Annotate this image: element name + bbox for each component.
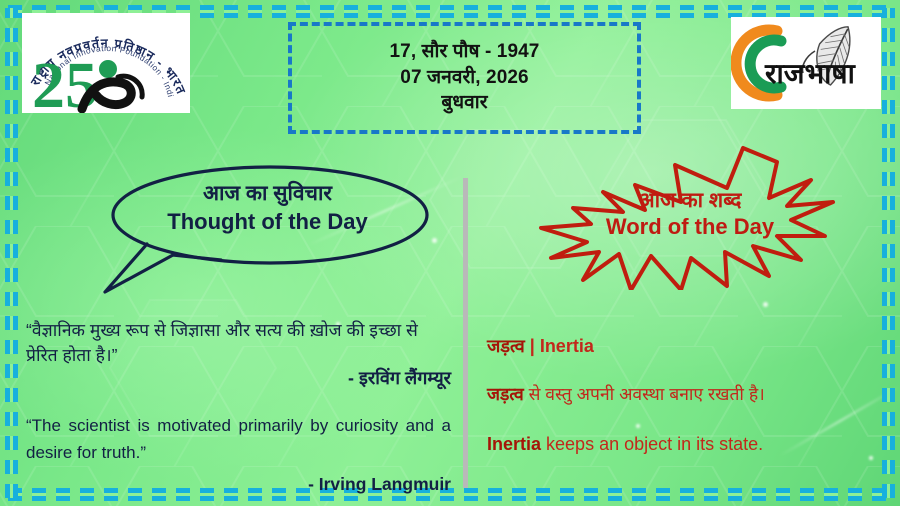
poster-canvas: राष्ट्रीय नवप्रवर्तन प्रतिष्ठान - भारत N…: [0, 0, 900, 506]
date-line-weekday: बुधवार: [441, 91, 487, 116]
national-innovation-foundation-logo: राष्ट्रीय नवप्रवर्तन प्रतिष्ठान - भारत N…: [22, 13, 190, 113]
light-dot: [763, 302, 768, 307]
word-sentence-english: Inertia keeps an object in its state.: [487, 432, 882, 457]
word-term-english: Inertia: [540, 336, 594, 356]
word-header: आज का शब्द Word of the Day: [495, 188, 885, 241]
thought-quote-english: “The scientist is motivated primarily by…: [26, 413, 451, 498]
word-header-hindi: आज का शब्द: [495, 188, 885, 213]
date-line-saur: 17, सौर पौष - 1947: [390, 40, 540, 65]
thought-body: “वैज्ञानिक मुख्य रूप से जिज्ञासा और सत्य…: [26, 318, 451, 498]
word-sentence-hindi-rest: से वस्तु अपनी अवस्था बनाए रखती है।: [524, 384, 765, 404]
date-line-gregorian: 07 जनवरी, 2026: [400, 66, 528, 91]
thought-quote-hindi-text: “वैज्ञानिक मुख्य रूप से जिज्ञासा और सत्य…: [26, 320, 418, 365]
thought-author-english: - Irving Langmuir: [26, 471, 451, 498]
column-divider: [463, 178, 468, 488]
frame-edge-left: [5, 8, 18, 498]
date-box: 17, सौर पौष - 1947 07 जनवरी, 2026 बुधवार: [288, 22, 641, 134]
thought-header-hindi: आज का सुविचार: [95, 182, 440, 207]
thought-quote-hindi: “वैज्ञानिक मुख्य रूप से जिज्ञासा और सत्य…: [26, 318, 451, 391]
word-term-line: जड़त्व | Inertia: [487, 334, 882, 358]
word-term-hindi: जड़त्व: [487, 336, 525, 356]
rajbhasha-logo: राजभाषा: [731, 17, 881, 109]
thought-of-the-day-bubble: आज का सुविचार Thought of the Day: [95, 160, 440, 295]
svg-text:राजभाषा: राजभाषा: [764, 58, 857, 89]
thought-author-hindi: - इरविंग लैंगम्यूर: [26, 366, 451, 392]
word-body: जड़त्व | Inertia जड़त्व से वस्तु अपनी अव…: [487, 334, 882, 457]
thought-quote-english-text: “The scientist is motivated primarily by…: [26, 416, 451, 461]
word-term-separator: |: [525, 336, 540, 356]
word-header-english: Word of the Day: [495, 214, 885, 240]
word-of-the-day-burst: आज का शब्द Word of the Day: [495, 140, 885, 290]
thought-header-english: Thought of the Day: [95, 209, 440, 235]
word-sentence-hindi: जड़त्व से वस्तु अपनी अवस्था बनाए रखती है…: [487, 382, 882, 407]
word-sentence-hindi-term: जड़त्व: [487, 384, 524, 404]
word-sentence-english-term: Inertia: [487, 434, 541, 454]
thought-header: आज का सुविचार Thought of the Day: [95, 182, 440, 235]
word-sentence-english-rest: keeps an object in its state.: [541, 434, 763, 454]
